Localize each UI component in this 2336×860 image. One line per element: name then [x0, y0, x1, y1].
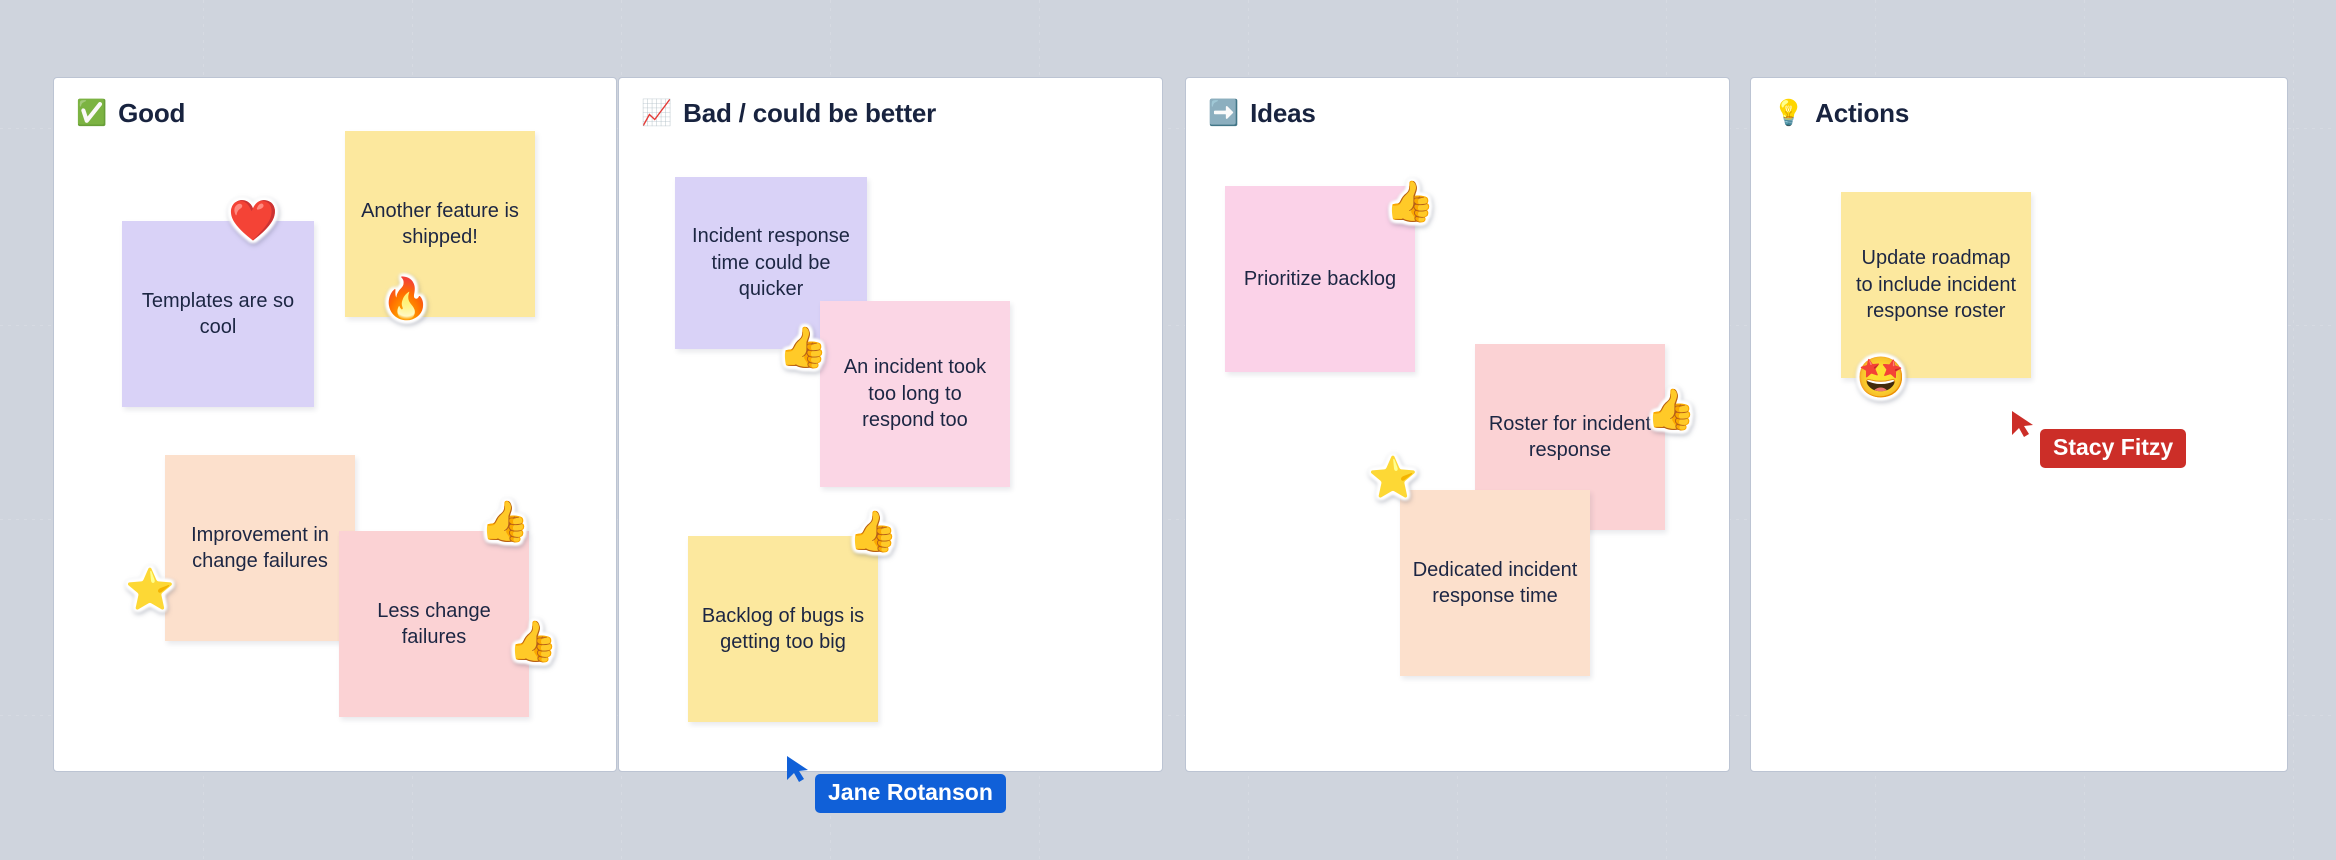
- red-heart-emoji[interactable]: ❤️: [228, 201, 278, 241]
- reaction-glyph: ⭐: [125, 570, 175, 610]
- reaction-glyph: 👍: [778, 328, 828, 368]
- reaction-glyph: 🤩: [1856, 358, 1906, 398]
- reaction-glyph: 👍: [1385, 182, 1435, 222]
- column-title-bad: Bad / could be better: [683, 98, 936, 129]
- star-emoji[interactable]: ⭐: [125, 570, 175, 610]
- cursor-pointer-icon: [2010, 409, 2036, 439]
- cursor-pointer-icon: [785, 754, 811, 784]
- sticky-note-text: Improvement in change failures: [177, 522, 343, 575]
- star-struck-emoji[interactable]: 🤩: [1856, 358, 1906, 398]
- column-title-ideas: Ideas: [1250, 98, 1316, 129]
- sticky-note-text: Roster for incident response: [1487, 411, 1653, 464]
- reaction-glyph: 👍: [508, 622, 558, 662]
- sticky-note[interactable]: Update roadmap to include incident respo…: [1841, 192, 2031, 378]
- thumbs-up-emoji[interactable]: 👍: [848, 512, 898, 552]
- retro-board-canvas[interactable]: ✅GoodTemplates are so coolAnother featur…: [0, 0, 2336, 860]
- column-header-ideas: ➡️Ideas: [1208, 98, 1316, 129]
- column-title-good: Good: [118, 98, 185, 129]
- reaction-glyph: 👍: [848, 512, 898, 552]
- sticky-note-text: Another feature is shipped!: [357, 198, 523, 251]
- sticky-note[interactable]: Less change failures: [339, 531, 529, 717]
- reaction-glyph: 👍: [1646, 390, 1696, 430]
- fire-emoji[interactable]: 🔥: [381, 279, 431, 319]
- collaborator-cursor: Stacy Fitzy: [2010, 415, 2186, 468]
- columns-container: ✅GoodTemplates are so coolAnother featur…: [0, 0, 2336, 860]
- check-mark-button-emoji: ✅: [76, 101, 107, 126]
- cursor-name-label: Stacy Fitzy: [2040, 429, 2186, 468]
- collaborator-cursor: Jane Rotanson: [785, 760, 1006, 813]
- column-title-actions: Actions: [1815, 98, 1909, 129]
- sticky-note[interactable]: Improvement in change failures: [165, 455, 355, 641]
- chart-increasing-emoji: 📈: [641, 101, 672, 126]
- column-header-actions: 💡Actions: [1773, 98, 1909, 129]
- sticky-note[interactable]: Another feature is shipped!: [345, 131, 535, 317]
- reaction-glyph: ⭐: [1368, 458, 1418, 498]
- thumbs-up-emoji[interactable]: 👍: [1646, 390, 1696, 430]
- sticky-note[interactable]: Backlog of bugs is getting too big: [688, 536, 878, 722]
- thumbs-up-emoji[interactable]: 👍: [778, 328, 828, 368]
- light-bulb-emoji: 💡: [1773, 101, 1804, 126]
- cursor-name-label: Jane Rotanson: [815, 774, 1006, 813]
- right-arrow-emoji: ➡️: [1208, 101, 1239, 126]
- column-header-good: ✅Good: [76, 98, 185, 129]
- sticky-note-text: Less change failures: [351, 598, 517, 651]
- sticky-note-text: Update roadmap to include incident respo…: [1853, 245, 2019, 324]
- thumbs-up-emoji[interactable]: 👍: [508, 622, 558, 662]
- column-header-bad: 📈Bad / could be better: [641, 98, 936, 129]
- sticky-note-text: Templates are so cool: [134, 288, 302, 341]
- thumbs-up-emoji[interactable]: 👍: [480, 502, 530, 542]
- sticky-note[interactable]: Dedicated incident response time: [1400, 490, 1590, 676]
- sticky-note-text: Prioritize backlog: [1244, 266, 1396, 292]
- sticky-note-text: An incident took too long to respond too: [832, 354, 998, 433]
- sticky-note-text: Backlog of bugs is getting too big: [700, 603, 866, 656]
- sticky-note-text: Dedicated incident response time: [1412, 557, 1578, 610]
- thumbs-up-emoji[interactable]: 👍: [1385, 182, 1435, 222]
- star-emoji[interactable]: ⭐: [1368, 458, 1418, 498]
- reaction-glyph: 🔥: [381, 279, 431, 319]
- reaction-glyph: ❤️: [228, 201, 278, 241]
- sticky-note-text: Incident response time could be quicker: [687, 223, 855, 302]
- sticky-note[interactable]: An incident took too long to respond too: [820, 301, 1010, 487]
- reaction-glyph: 👍: [480, 502, 530, 542]
- sticky-note[interactable]: Templates are so cool: [122, 221, 314, 407]
